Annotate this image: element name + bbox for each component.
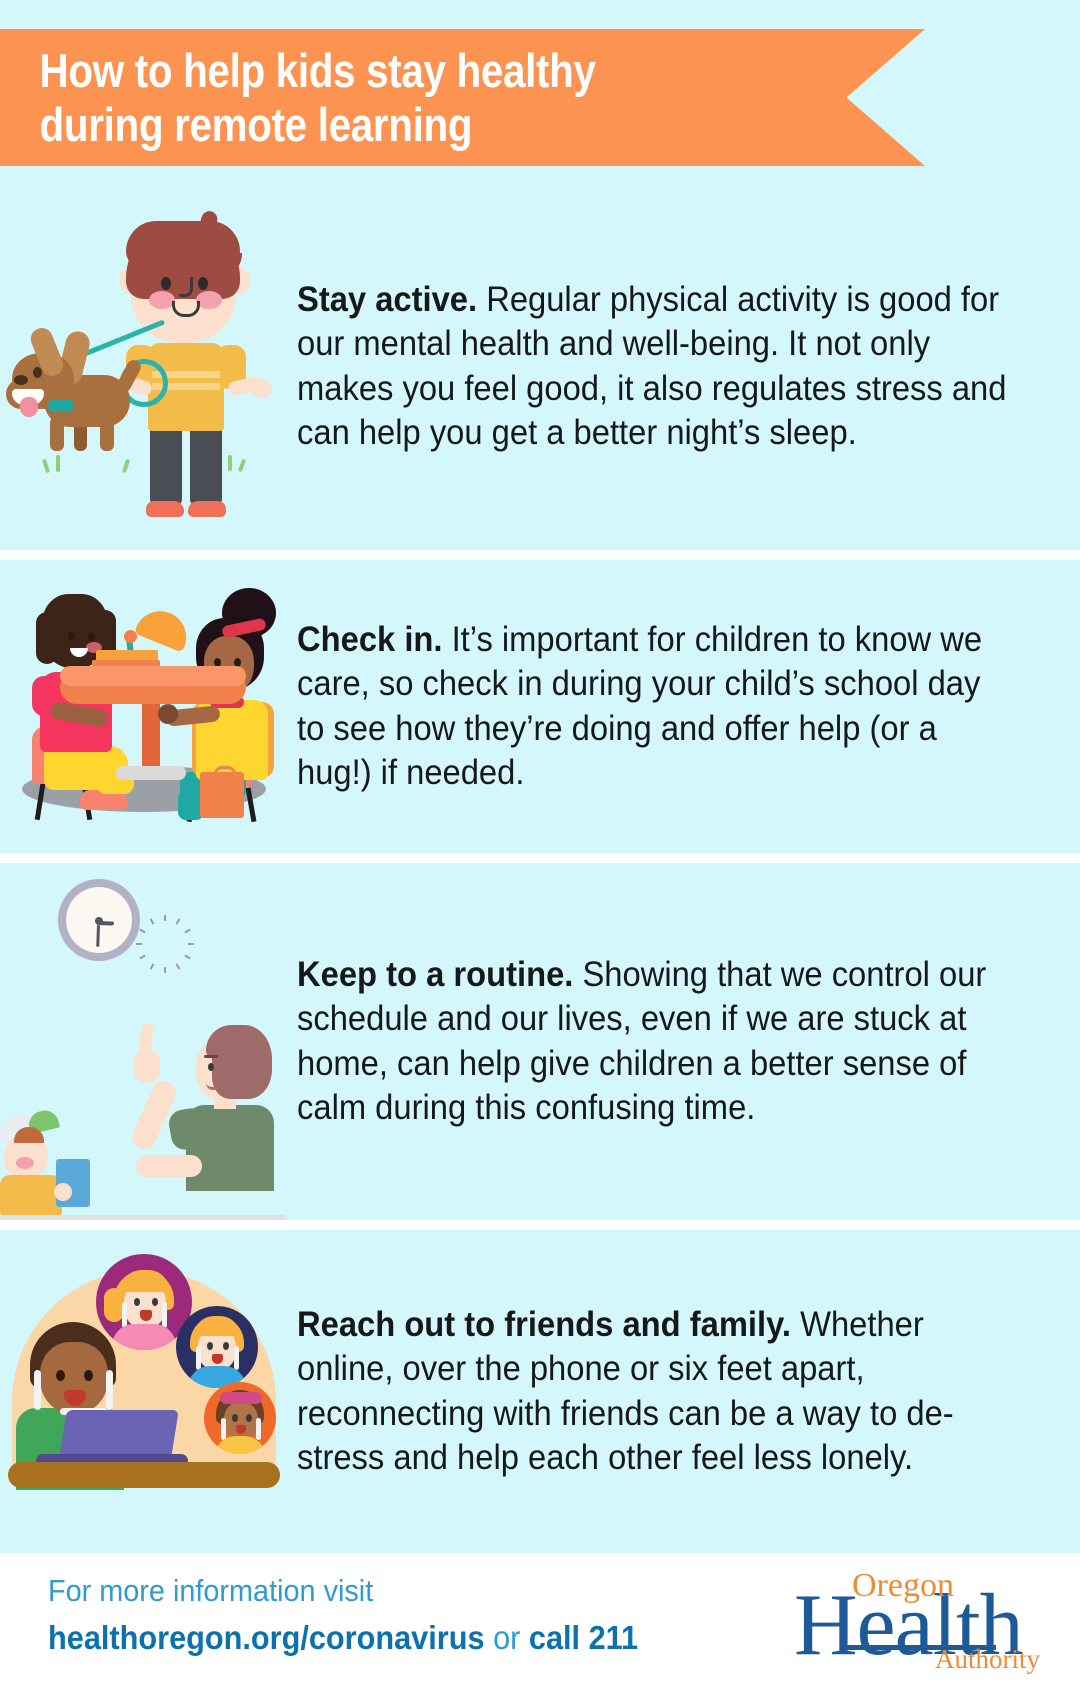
illustration-parent-and-child-at-table — [0, 560, 285, 853]
boy-eye-right — [198, 277, 208, 290]
person-left-eye — [68, 632, 75, 641]
tip-card-keep-to-a-routine: Keep to a routine. Showing that we contr… — [0, 863, 1080, 1220]
grass-tuft-icon — [122, 459, 130, 474]
boy-hand-right — [252, 379, 272, 398]
earbud-wire — [221, 1418, 226, 1440]
friend-ponytail — [104, 1288, 124, 1322]
adult-arm-forward — [136, 1155, 202, 1177]
boy-nose — [179, 277, 193, 297]
footer-intro-text: For more information visit — [48, 1573, 638, 1609]
tip-card-stay-active: Stay active. Regular physical activity i… — [0, 183, 1080, 550]
clock-tick — [150, 963, 155, 969]
title-ribbon: How to help kids stay healthy during rem… — [0, 29, 925, 166]
earbud-wire — [196, 1346, 201, 1370]
child-hand — [54, 1183, 72, 1201]
boy-leg-right — [190, 425, 222, 507]
friend-eye — [246, 1414, 252, 1422]
earbud-wire — [34, 1370, 41, 1410]
clock-tick — [176, 963, 181, 969]
clock-tick — [184, 955, 190, 960]
friend-fringe — [120, 1270, 170, 1292]
clock-center-pin — [95, 917, 103, 925]
school-bag — [200, 772, 244, 818]
dog-tongue — [20, 397, 38, 417]
clock-tick — [150, 918, 155, 924]
tip-lead: Reach out to friends and family. — [297, 1305, 791, 1344]
illustration-boy-walking-dog — [0, 183, 285, 550]
logo-word-authority: Authority — [935, 1644, 1040, 1675]
dog-collar — [48, 399, 74, 412]
table-leg — [142, 698, 160, 776]
person-right-hand — [158, 704, 178, 724]
clock-tick — [164, 967, 166, 973]
tip-copy: Check in. It’s important for children to… — [297, 560, 1056, 853]
boy-eye-left — [56, 1370, 65, 1381]
oregon-health-authority-logo: Health Oregon Authority — [794, 1561, 1044, 1689]
header-banner-area: How to help kids stay healthy during rem… — [0, 0, 1080, 183]
boy-shoe-left — [146, 501, 184, 517]
logo-word-oregon: Oregon — [852, 1567, 954, 1605]
clock-tick — [184, 929, 190, 934]
friend-eye — [134, 1298, 140, 1306]
tip-copy: Reach out to friends and family. Whether… — [297, 1230, 1056, 1553]
footer-conjunction: or — [485, 1619, 529, 1656]
footer: For more information visit healthoregon.… — [0, 1553, 1080, 1700]
tip-card-reach-out: Reach out to friends and family. Whether… — [0, 1230, 1080, 1553]
friend-avatar-navy — [176, 1306, 258, 1388]
child-cheek — [16, 1157, 34, 1169]
clock-tick — [164, 915, 166, 921]
grass-tuft-icon — [228, 455, 232, 471]
tip-lead: Keep to a routine. — [297, 955, 573, 994]
earbud-wire — [234, 1346, 239, 1370]
earbud-wire — [106, 1370, 113, 1410]
friend-avatar-orange — [204, 1382, 276, 1454]
friend-eye — [232, 1414, 238, 1422]
friend-eye — [207, 1342, 213, 1350]
friend-face — [224, 1402, 258, 1440]
earbud-wire — [256, 1418, 261, 1440]
adult-eyebrow — [204, 1055, 218, 1058]
clock-tick — [188, 943, 194, 945]
footer-contact-line: healthoregon.org/coronavirus or call 211 — [48, 1619, 638, 1657]
footer-url-link[interactable]: healthoregon.org/coronavirus — [48, 1619, 485, 1656]
friend-eye — [223, 1342, 229, 1350]
clock-tick — [176, 918, 181, 924]
boy-shoe-right — [188, 501, 226, 517]
desk-surface — [0, 1215, 285, 1220]
desk-surface — [8, 1462, 280, 1488]
boy-eye-right — [84, 1370, 93, 1381]
lamp-joint — [124, 630, 137, 643]
page-title: How to help kids stay healthy during rem… — [0, 44, 699, 150]
friend-fringe — [194, 1316, 240, 1336]
illustration-boy-on-video-call-with-friends — [0, 1230, 285, 1553]
tip-copy: Stay active. Regular physical activity i… — [297, 183, 1056, 550]
person-left-eye — [88, 632, 95, 641]
dog-eye — [33, 367, 42, 378]
illustration-clock-and-adult-pointing — [0, 863, 285, 1220]
dog-nose — [14, 375, 28, 385]
lamp-shade-icon — [134, 603, 194, 652]
tips-list: Stay active. Regular physical activity i… — [0, 183, 1080, 1553]
table-top-surface — [60, 666, 246, 686]
earbud-wire — [162, 1302, 167, 1328]
tip-copy: Keep to a routine. Showing that we contr… — [297, 863, 1056, 1220]
grass-tuft-icon — [56, 455, 60, 472]
tip-lead: Check in. — [297, 620, 442, 659]
clock-tick — [136, 943, 142, 945]
friend-eye — [152, 1298, 158, 1306]
footer-text-block: For more information visit healthoregon.… — [48, 1573, 683, 1657]
grass-tuft-icon — [42, 459, 50, 474]
boy-leg-left — [150, 425, 182, 507]
grass-tuft-icon — [238, 459, 246, 473]
tip-card-check-in: Check in. It’s important for children to… — [0, 560, 1080, 853]
adult-eye — [208, 1063, 214, 1071]
table-base — [116, 766, 186, 780]
friend-shirt — [112, 1324, 176, 1350]
boy-eye-left — [161, 277, 171, 290]
clock-tick — [139, 929, 145, 934]
tip-lead: Stay active. — [297, 280, 477, 319]
footer-phone-link[interactable]: call 211 — [529, 1619, 638, 1656]
friend-headband — [220, 1392, 262, 1404]
clock-tick — [139, 955, 145, 960]
